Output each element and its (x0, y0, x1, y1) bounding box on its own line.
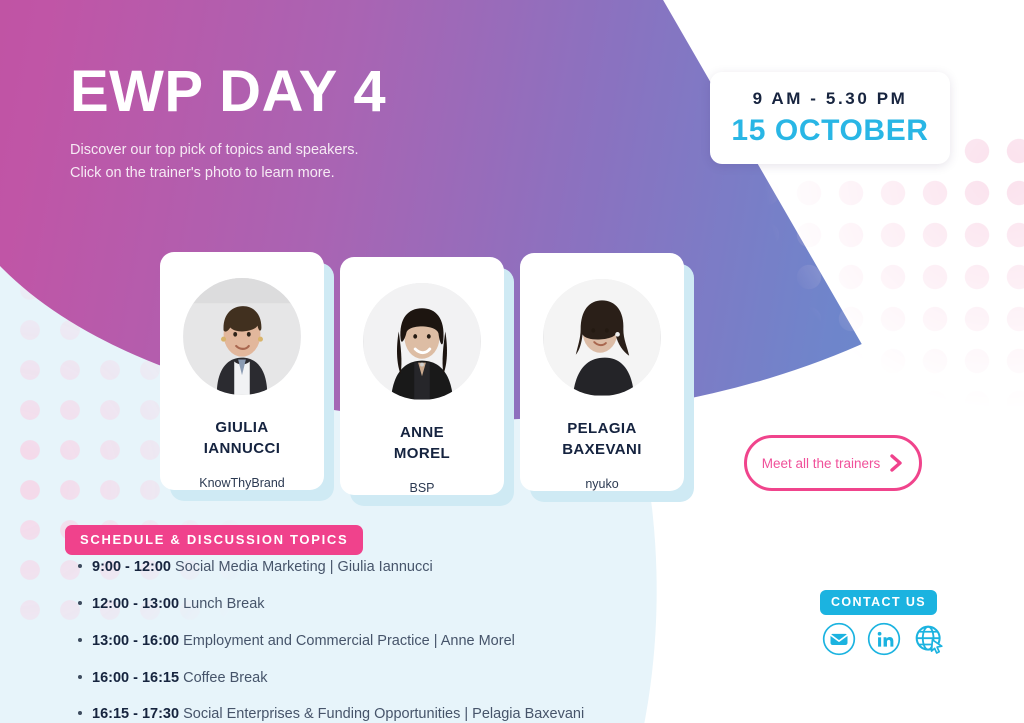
schedule-time: 16:15 - 17:30 (92, 706, 179, 722)
bullet-icon (78, 564, 82, 568)
schedule-topic: Social Enterprises & Funding Opportuniti… (183, 706, 584, 722)
header-block: EWP DAY 4 Discover our top pick of topic… (70, 62, 386, 186)
header-subtitle: Discover our top pick of topics and spea… (70, 139, 386, 186)
speaker-card[interactable]: GIULIA IANNUCCI KnowThyBrand (160, 252, 324, 490)
meet-all-trainers-label: Meet all the trainers (762, 456, 881, 471)
avatar[interactable] (543, 279, 661, 396)
schedule-time: 9:00 - 12:00 (92, 559, 171, 575)
list-item: 12:00 - 13:00 Lunch Break (70, 595, 584, 614)
schedule-time: 13:00 - 16:00 (92, 633, 179, 649)
schedule-topic: Coffee Break (183, 670, 267, 686)
speaker-card[interactable]: ANNE MOREL BSP (340, 257, 504, 495)
header-subtitle-line2: Click on the trainer's photo to learn mo… (70, 162, 386, 185)
speaker-photo-giulia (183, 278, 301, 395)
list-item: 13:00 - 16:00 Employment and Commercial … (70, 632, 584, 651)
contact-icon-row (822, 622, 946, 656)
speaker-card-list: GIULIA IANNUCCI KnowThyBrand (160, 252, 684, 495)
schedule-list: 9:00 - 12:00 Social Media Marketing | Gi… (70, 558, 584, 723)
date-badge: 9 AM - 5.30 PM 15 OCTOBER (710, 72, 950, 164)
speaker-last-name: MOREL (394, 443, 450, 465)
speaker-first-name: GIULIA (204, 417, 281, 439)
schedule-topic: Lunch Break (183, 596, 264, 612)
speaker-photo-pelagia (543, 279, 661, 396)
page-title: EWP DAY 4 (70, 62, 386, 123)
list-item: 16:00 - 16:15 Coffee Break (70, 669, 584, 688)
schedule-heading-badge: SCHEDULE & DISCUSSION TOPICS (65, 525, 363, 555)
schedule-topic: Social Media Marketing | Giulia Iannucci (175, 559, 433, 575)
contact-us-badge: CONTACT US (820, 590, 937, 615)
bullet-icon (78, 711, 82, 715)
schedule-topic: Employment and Commercial Practice | Ann… (183, 633, 515, 649)
avatar[interactable] (183, 278, 301, 395)
list-item: 9:00 - 12:00 Social Media Marketing | Gi… (70, 558, 584, 577)
speaker-first-name: PELAGIA (562, 418, 642, 440)
list-item: 16:15 - 17:30 Social Enterprises & Fundi… (70, 705, 584, 723)
speaker-name: ANNE MOREL (394, 422, 450, 466)
meet-all-trainers-button[interactable]: Meet all the trainers (744, 435, 922, 491)
speaker-first-name: ANNE (394, 422, 450, 444)
chevron-right-icon (889, 454, 904, 472)
speaker-organization: BSP (409, 481, 434, 495)
website-globe-icon[interactable] (912, 622, 946, 656)
event-date: 15 OCTOBER (731, 114, 928, 148)
email-icon[interactable] (822, 622, 856, 656)
avatar[interactable] (363, 283, 481, 400)
speaker-card[interactable]: PELAGIA BAXEVANI nyuko (520, 253, 684, 491)
pink-dot-pattern-right (704, 130, 1024, 460)
speaker-name: GIULIA IANNUCCI (204, 417, 281, 461)
speaker-photo-anne (363, 283, 481, 400)
bullet-icon (78, 601, 82, 605)
header-subtitle-line1: Discover our top pick of topics and spea… (70, 139, 386, 162)
schedule-time: 12:00 - 13:00 (92, 596, 179, 612)
bullet-icon (78, 675, 82, 679)
schedule-time: 16:00 - 16:15 (92, 670, 179, 686)
speaker-last-name: IANNUCCI (204, 438, 281, 460)
speaker-name: PELAGIA BAXEVANI (562, 418, 642, 462)
speaker-last-name: BAXEVANI (562, 439, 642, 461)
poster-canvas: EWP DAY 4 Discover our top pick of topic… (0, 0, 1024, 723)
speaker-organization: nyuko (585, 477, 618, 491)
speaker-organization: KnowThyBrand (199, 476, 284, 490)
bullet-icon (78, 638, 82, 642)
linkedin-icon[interactable] (867, 622, 901, 656)
event-time: 9 AM - 5.30 PM (753, 89, 908, 109)
